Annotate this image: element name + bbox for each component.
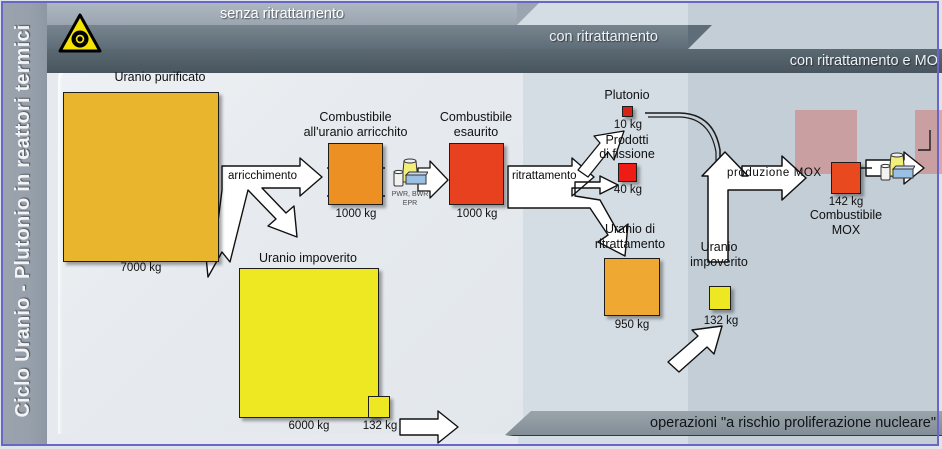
outer-frame (1, 1, 939, 446)
diagram-canvas: senza ritrattamento con ritrattamento co… (0, 0, 942, 449)
